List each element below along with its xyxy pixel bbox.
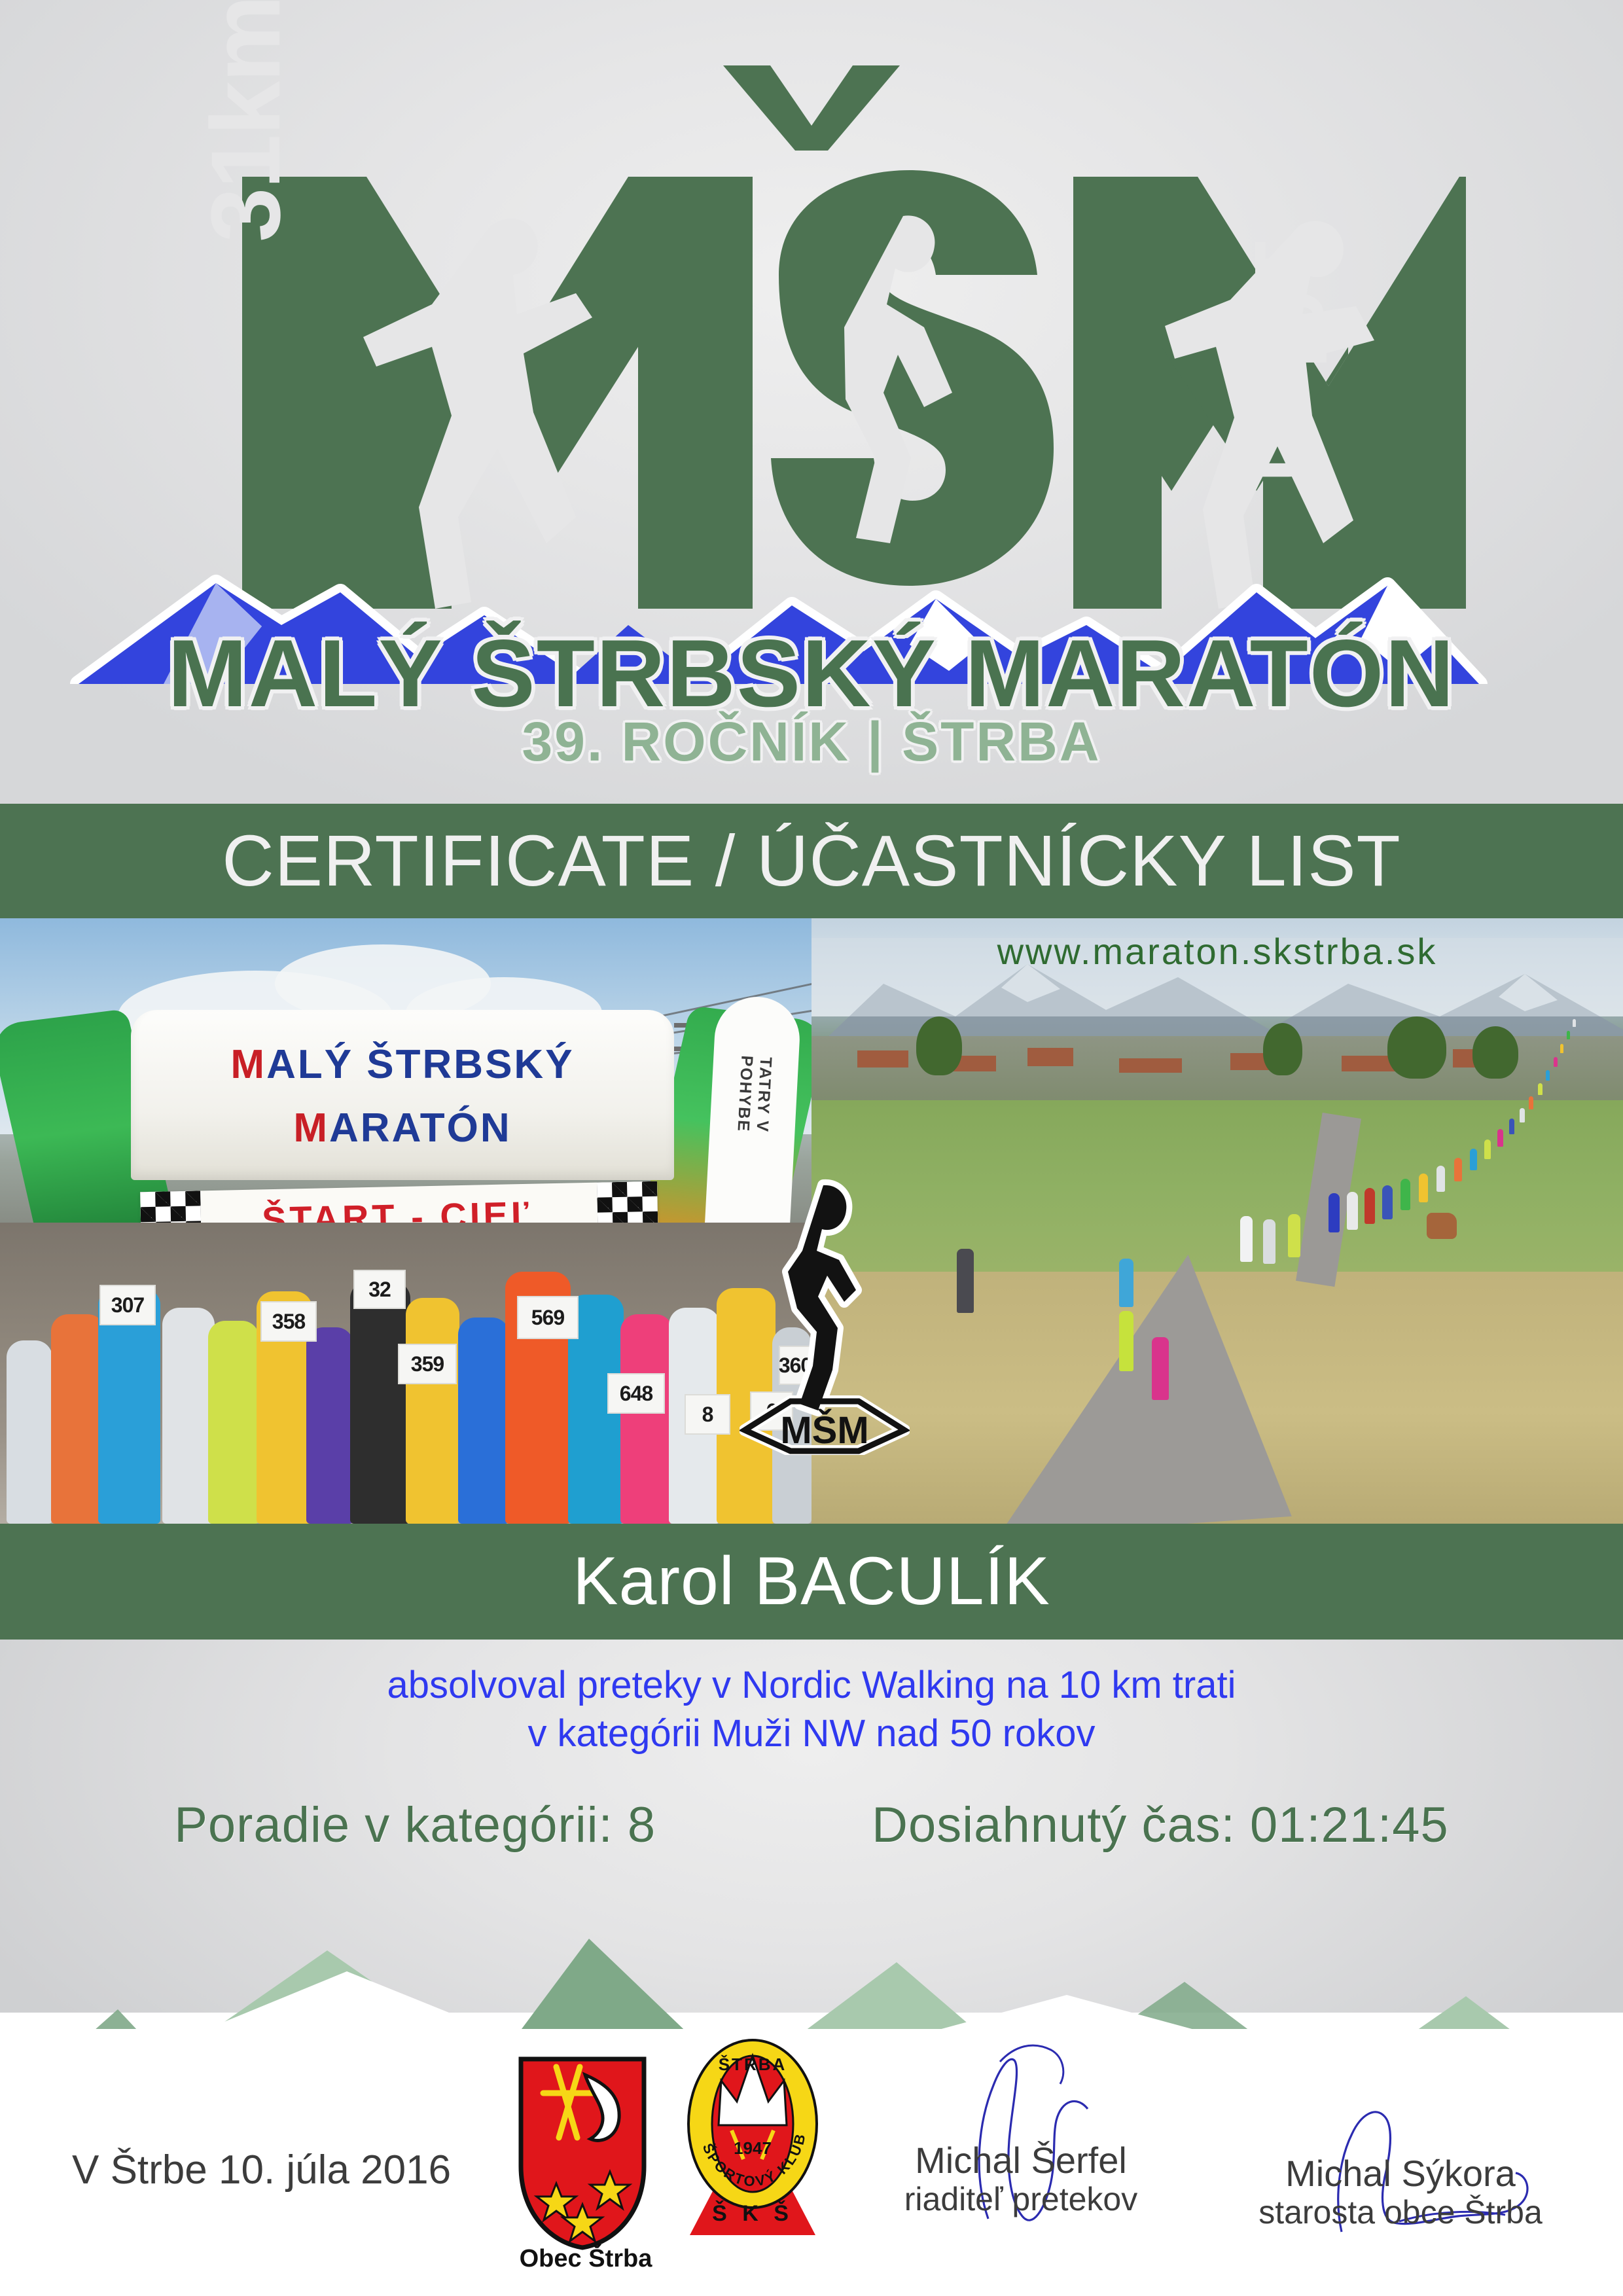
arch-banner: MALÝ ŠTRBSKÝ MARATÓN <box>131 1010 674 1180</box>
runner <box>1382 1185 1393 1219</box>
signatory-role-2: starosta obce Štrba <box>1230 2194 1571 2232</box>
runner <box>406 1298 459 1524</box>
participant-name: Karol BACULÍK <box>573 1543 1050 1621</box>
obec-strba-crest-icon <box>517 2055 648 2251</box>
msm-wordmark: 31km 10km <box>0 26 1623 589</box>
arch-line1-initial: M <box>230 1042 266 1087</box>
tree <box>916 1016 962 1075</box>
bib-number: 359 <box>398 1344 457 1384</box>
category-rank: Poradie v kategórii: 8 <box>174 1797 656 1854</box>
crest-label: Obec Štrba <box>497 2245 674 2273</box>
spectator <box>957 1249 974 1313</box>
issue-date: V Štrbe 10. júla 2016 <box>72 2147 478 2193</box>
race-road <box>979 1249 1292 1524</box>
runner <box>1263 1219 1275 1264</box>
cow <box>1427 1213 1457 1239</box>
runner <box>1554 1057 1558 1067</box>
certificate-page: 31km 10km MALÝ ŠTRBSKÝ MARATÓN 39. ROČNÍ… <box>0 0 1623 2296</box>
runner <box>1573 1019 1576 1027</box>
arch-line1-rest: ALÝ ŠTRBSKÝ <box>266 1042 574 1087</box>
arch-banner-line2: MARATÓN <box>131 1105 674 1151</box>
runner <box>1567 1031 1570 1039</box>
house-roof <box>857 1050 908 1067</box>
bib-number: 358 <box>260 1301 317 1342</box>
arch-line2-rest: ARATÓN <box>329 1105 512 1151</box>
distance-left-label: 31km <box>196 0 294 242</box>
runner-crowd: 307 358 32 359 569 648 8 6 360 <box>0 1223 811 1524</box>
runner <box>1240 1216 1253 1262</box>
certificate-title: CERTIFICATE / ÚČASTNÍCKY LIST <box>222 819 1401 903</box>
club-year: 1947 <box>734 2138 772 2158</box>
description-line-1: absolvoval preteky v Nordic Walking na 1… <box>0 1661 1623 1710</box>
runner <box>1470 1149 1477 1170</box>
runner <box>1288 1214 1300 1257</box>
distance-right-label: 10km <box>1240 236 1338 482</box>
sponsor-flag-text: TATRY V POHYBE <box>733 1051 776 1138</box>
certificate-title-band: CERTIFICATE / ÚČASTNÍCKY LIST <box>0 804 1623 918</box>
signature-block-2: Michal Sýkora starosta obce Štrba <box>1230 2153 1571 2231</box>
signatory-name-1: Michal Šerfel <box>851 2140 1191 2181</box>
countryside-photo <box>811 918 1623 1524</box>
house-roof <box>1119 1058 1182 1073</box>
tree <box>1263 1023 1302 1075</box>
runner <box>162 1308 215 1524</box>
event-subtitle: 39. ROČNÍK | ŠTRBA <box>0 710 1623 774</box>
caron-accent-icon <box>723 65 900 151</box>
sks-club-logo-icon: 1947 ŠPORTOVÝ KLUB Š K Š ŠTRBA <box>681 2039 825 2255</box>
photo-strip: MALÝ ŠTRBSKÝ MARATÓN ŠTART - CIEĽ TATRY … <box>0 918 1623 1524</box>
runner <box>350 1282 410 1524</box>
website-url[interactable]: www.maraton.skstrba.sk <box>811 930 1623 973</box>
runner <box>1364 1188 1375 1224</box>
runner <box>306 1327 353 1524</box>
club-initials: Š K Š <box>712 2200 793 2226</box>
signature-block-1: Michal Šerfel riaditeľ pretekov <box>851 2140 1191 2218</box>
signatory-role-1: riaditeľ pretekov <box>851 2181 1191 2219</box>
arch-line2-initial: M <box>293 1105 329 1151</box>
runner <box>7 1340 52 1524</box>
runner <box>1484 1139 1491 1159</box>
runner <box>1419 1174 1428 1202</box>
results-row: Poradie v kategórii: 8 Dosiahnutý čas: 0… <box>0 1797 1623 1854</box>
tree <box>1387 1016 1446 1079</box>
runner <box>1560 1044 1563 1053</box>
participant-name-band: Karol BACULÍK <box>0 1524 1623 1640</box>
msm-sign-text: MŠM <box>780 1409 868 1452</box>
bib-number: 307 <box>99 1285 156 1325</box>
runner <box>620 1314 673 1524</box>
logo-area: 31km 10km MALÝ ŠTRBSKÝ MARATÓN 39. ROČNÍ… <box>0 0 1623 804</box>
participant-description: absolvoval preteky v Nordic Walking na 1… <box>0 1661 1623 1758</box>
description-line-2: v kategórii Muži NW nad 50 rokov <box>0 1710 1623 1758</box>
runner <box>1400 1179 1410 1210</box>
finish-time: Dosiahnutý čas: 01:21:45 <box>872 1797 1449 1854</box>
runner <box>1119 1259 1133 1307</box>
runner <box>208 1321 259 1524</box>
runner <box>51 1314 105 1524</box>
runner <box>458 1318 509 1524</box>
runner <box>1347 1192 1358 1230</box>
runner <box>1329 1193 1340 1232</box>
bib-number: 648 <box>607 1373 665 1414</box>
bib-number: 8 <box>685 1394 730 1435</box>
club-top-text: ŠTRBA <box>719 2054 787 2074</box>
runner <box>1119 1311 1133 1371</box>
runner <box>1454 1158 1462 1181</box>
runner <box>1520 1108 1525 1122</box>
start-line-photo: MALÝ ŠTRBSKÝ MARATÓN ŠTART - CIEĽ TATRY … <box>0 918 811 1524</box>
runner <box>1497 1129 1503 1147</box>
runner <box>1509 1119 1514 1134</box>
bib-number: 32 <box>353 1270 406 1309</box>
runner <box>1538 1083 1543 1095</box>
runner <box>1546 1070 1550 1081</box>
msm-runner-sign-icon: MŠM <box>740 1174 910 1455</box>
arch-banner-line1: MALÝ ŠTRBSKÝ <box>131 1041 674 1088</box>
runner <box>1436 1166 1445 1192</box>
house-roof <box>1027 1048 1073 1066</box>
bib-number: 569 <box>517 1296 579 1339</box>
signatory-name-2: Michal Sýkora <box>1230 2153 1571 2194</box>
runner <box>1529 1096 1533 1109</box>
tree <box>1472 1026 1518 1079</box>
runner <box>1152 1337 1169 1400</box>
